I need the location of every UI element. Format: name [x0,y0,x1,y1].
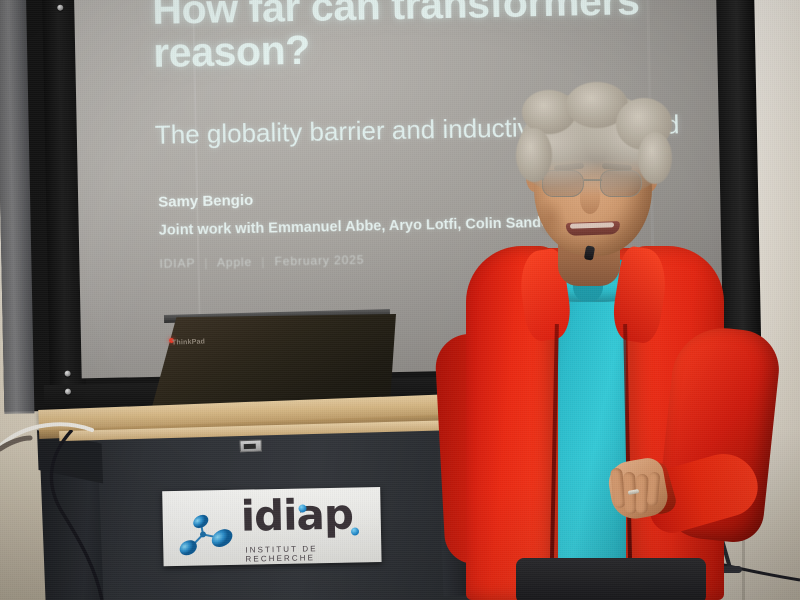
slide-footer-org: IDIAP [159,256,195,271]
slide-footer-separator: | [256,255,270,269]
idiap-logo-plate: idiap INSTITUT DE RECHERCHE [162,487,381,566]
idiap-dot-icon [351,527,359,535]
frame-screw [57,5,63,11]
slide-footer-date: February 2025 [274,253,364,269]
hair-tuft [638,132,672,184]
finger [636,474,649,514]
slide-footer: IDIAP | Apple | February 2025 [159,253,364,271]
hair-tuft [516,128,552,182]
conference-talk-photo: How far can transformers reason? The glo… [0,0,800,600]
idiap-molecule-icon [177,512,240,557]
slide-footer-company: Apple [217,255,252,270]
slide-title: How far can transformers reason? [152,0,729,76]
slide-footer-separator: | [199,256,213,270]
idiap-tagline: INSTITUT DE RECHERCHE [245,543,381,564]
slide-author: Samy Bengio [158,192,253,211]
podium: idiap INSTITUT DE RECHERCHE [38,387,475,600]
podium-control-panel[interactable] [240,439,262,452]
frame-screw [65,371,71,377]
frame-screw [65,389,71,395]
speaker-person [430,88,760,600]
trousers [516,558,706,600]
slide-title-line2: reason? [153,21,729,76]
laptop-brand-label: ThinkPad [172,338,205,346]
idiap-wordmark: idiap [240,494,353,538]
cheek-shadow [536,198,566,238]
